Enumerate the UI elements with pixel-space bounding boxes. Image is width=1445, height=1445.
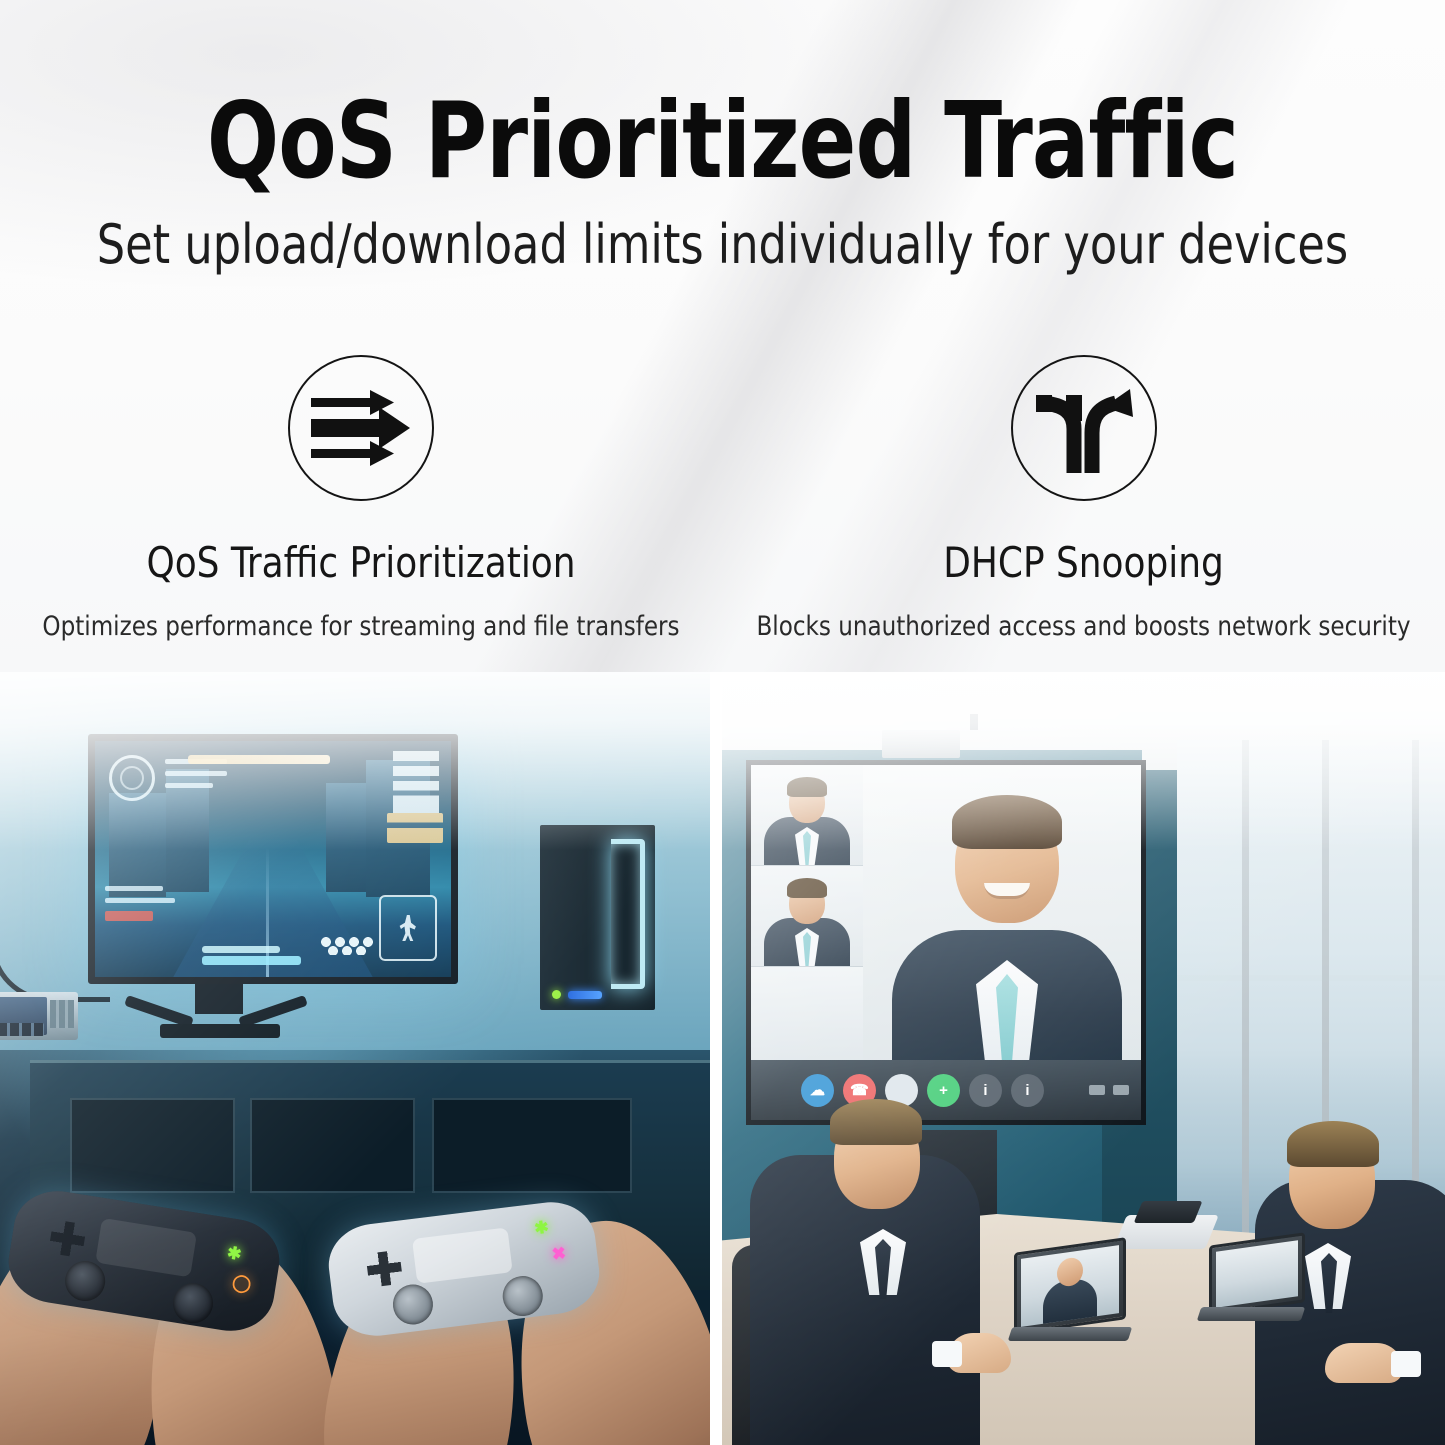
- gaming-setup-photo: ✱ ◯ ✱ ✖: [0, 620, 710, 1445]
- add-button[interactable]: +: [927, 1074, 960, 1107]
- game-hud-skillbar: [202, 946, 280, 953]
- window-rail: [1177, 975, 1445, 981]
- feature-title: DHCP Snooping: [740, 539, 1427, 587]
- active-speaker-video: [863, 765, 1146, 1070]
- share-button[interactable]: ☁: [801, 1074, 834, 1107]
- game-hud-text: [393, 751, 439, 813]
- branching-arrow-icon: [1011, 355, 1157, 501]
- game-hud-quest: [387, 813, 443, 843]
- game-hud-character: [379, 895, 437, 961]
- participant-thumbnail: [751, 866, 863, 967]
- info-button-2[interactable]: i: [1011, 1074, 1044, 1107]
- marketing-page: ✱ ◯ ✱ ✖: [0, 0, 1445, 1445]
- tablet-stand: [1113, 1215, 1219, 1249]
- feature-title: QoS Traffic Prioritization: [18, 539, 704, 587]
- game-hud-radar: [109, 755, 155, 801]
- switch-vents: [50, 1000, 74, 1028]
- game-hud-dots: [319, 937, 373, 955]
- three-arrows-icon: [288, 355, 434, 501]
- info-button-1[interactable]: i: [969, 1074, 1002, 1107]
- video-call-toolbar[interactable]: ☁ ☎ + i i: [751, 1060, 1146, 1120]
- video-conference-photo: ☁ ☎ + i i: [722, 620, 1445, 1445]
- monitor-stand: [195, 984, 243, 1014]
- players-hands-layer: ✱ ◯ ✱ ✖: [0, 1105, 710, 1445]
- header-block: QoS Prioritized Traffic Set upload/downl…: [0, 86, 1445, 278]
- feature-description: Optimizes performance for streaming and …: [18, 609, 704, 644]
- monitor-base: [160, 1024, 280, 1038]
- game-hud-bar: [188, 755, 330, 764]
- photo-strip: ✱ ◯ ✱ ✖: [0, 620, 1445, 1445]
- laptop-right: [1209, 1232, 1305, 1315]
- feature-dhcp-snooping: DHCP Snooping Blocks unauthorized access…: [722, 355, 1445, 644]
- participant-thumbnail: [751, 765, 863, 866]
- participant-thumbnails: [751, 765, 863, 1070]
- pc-tower: [540, 825, 655, 1010]
- pc-indicator-lights: [552, 990, 606, 1000]
- gaming-monitor: [88, 734, 458, 984]
- layout-toggle-icons[interactable]: [1089, 1085, 1129, 1095]
- conference-camera: [882, 730, 960, 758]
- feature-row: QoS Traffic Prioritization Optimizes per…: [0, 355, 1445, 644]
- game-hud-skillbar: [202, 956, 302, 965]
- laptop-left: [1014, 1237, 1126, 1335]
- photo-divider: [710, 620, 722, 1445]
- switch-ports: [0, 1023, 44, 1036]
- feature-description: Blocks unauthorized access and boosts ne…: [740, 609, 1427, 644]
- participant-thumbnail: [751, 967, 863, 1068]
- monitor-screen: [95, 741, 451, 977]
- pc-led-strip: [611, 839, 645, 989]
- feature-qos-traffic-prioritization: QoS Traffic Prioritization Optimizes per…: [0, 355, 722, 644]
- page-title: QoS Prioritized Traffic: [72, 86, 1373, 197]
- network-switch-device: [0, 992, 78, 1040]
- game-hud-alert: [105, 911, 153, 921]
- page-subtitle: Set upload/download limits individually …: [58, 213, 1387, 278]
- conference-display: ☁ ☎ + i i: [746, 760, 1146, 1125]
